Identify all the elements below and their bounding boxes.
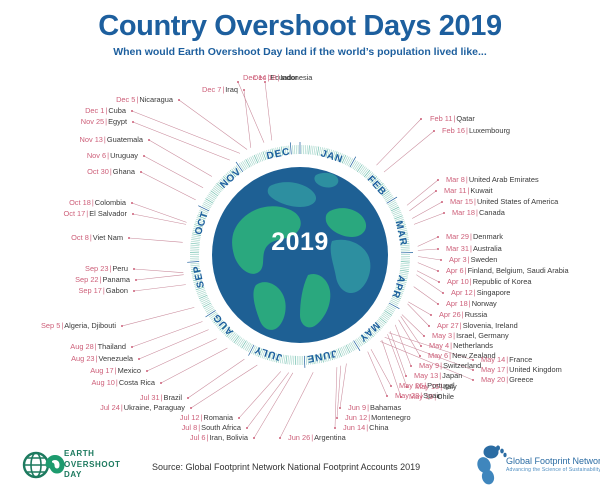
entry-marker-dot — [472, 379, 474, 381]
entry-date: Dec 5 — [116, 95, 135, 104]
entry-marker-dot — [131, 346, 133, 348]
entry-marker-dot — [190, 407, 192, 409]
entry-countries: Mexico — [118, 366, 141, 375]
entry-marker-dot — [143, 155, 145, 157]
entry-countries: Netherlands — [453, 341, 493, 350]
country-entry: Dec 7|Iraq — [202, 86, 238, 93]
entry-date: May 4 — [429, 341, 449, 350]
entry-date: Oct 18 — [69, 198, 91, 207]
country-entry: Apr 12|Singapore — [451, 289, 510, 296]
country-entry: Sep 17|Gabon — [78, 287, 128, 294]
entry-marker-dot — [264, 81, 266, 83]
entry-countries: Brazil — [164, 393, 182, 402]
entry-marker-dot — [132, 213, 134, 215]
country-entry: May 4|Netherlands — [429, 342, 493, 349]
entry-countries: Sweden — [471, 255, 498, 264]
country-entry: Oct 8|Viet Nam — [71, 234, 123, 241]
entry-countries: Colombia — [95, 198, 126, 207]
source-credit: Source: Global Footprint Network Nationa… — [152, 462, 420, 472]
entry-date: Mar 18 — [452, 208, 475, 217]
entry-date: Oct 30 — [87, 167, 109, 176]
entry-marker-dot — [246, 427, 248, 429]
entry-countries: El Salvador — [89, 209, 127, 218]
entry-countries: Israel, Germany — [456, 331, 509, 340]
country-entry: Jul 24|Ukraine, Paraguay — [100, 404, 185, 411]
country-entry: Feb 16|Luxembourg — [442, 127, 510, 134]
entry-date: Sep 23 — [85, 264, 108, 273]
entry-countries: Cuba — [108, 106, 126, 115]
entry-date: Apr 3 — [449, 255, 467, 264]
country-entry: May 20|Greece — [481, 376, 533, 383]
entry-date: May 13 — [414, 371, 438, 380]
entry-countries: Ukraine, Paraguay — [124, 403, 185, 412]
entry-date: Jul 12 — [180, 413, 200, 422]
country-entry: Jun 9|Bahamas — [348, 404, 401, 411]
entry-countries: Switzerland — [443, 361, 481, 370]
entry-date: Apr 10 — [447, 277, 469, 286]
country-entry: May 13|Japan — [414, 372, 462, 379]
entry-marker-dot — [253, 437, 255, 439]
entry-date: Aug 17 — [90, 366, 113, 375]
entry-marker-dot — [423, 335, 425, 337]
entry-countries: Denmark — [473, 232, 503, 241]
entry-countries: Slovenia, Ireland — [463, 321, 518, 330]
country-entry: Jul 31|Brazil — [140, 394, 182, 401]
entry-countries: United Kingdom — [509, 365, 562, 374]
entry-countries: Iran, Bolivia — [209, 433, 248, 442]
entry-date: May 26 — [399, 381, 423, 390]
country-entry: Apr 18|Norway — [446, 300, 497, 307]
country-entry: Apr 26|Russia — [439, 311, 487, 318]
entry-marker-dot — [140, 171, 142, 173]
country-entry: Nov 6|Uruguay — [87, 152, 138, 159]
country-entry: Aug 28|Thailand — [70, 343, 126, 350]
entry-date: Aug 10 — [91, 378, 114, 387]
entry-marker-dot — [160, 382, 162, 384]
entry-date: Nov 13 — [80, 135, 103, 144]
entry-marker-dot — [243, 89, 245, 91]
country-entry: Dec 1|Cuba — [85, 107, 126, 114]
country-entry: Aug 23|Venezuela — [71, 355, 133, 362]
entry-date: Aug 28 — [70, 342, 93, 351]
entry-countries: Canada — [479, 208, 505, 217]
entry-marker-dot — [441, 201, 443, 203]
entry-marker-dot — [178, 99, 180, 101]
entry-countries: South Africa — [201, 423, 241, 432]
entry-marker-dot — [133, 268, 135, 270]
entry-date: Jul 8 — [182, 423, 198, 432]
country-entry: Apr 27|Slovenia, Ireland — [437, 322, 518, 329]
entry-marker-dot — [121, 325, 123, 327]
entry-marker-dot — [146, 370, 148, 372]
country-entry: May 14|France — [481, 356, 532, 363]
country-entry: Sep 23|Peru — [85, 265, 128, 272]
page-subtitle: When would Earth Overshoot Day land if t… — [0, 46, 600, 58]
entry-countries: Qatar — [456, 114, 474, 123]
entry-marker-dot — [131, 110, 133, 112]
entry-marker-dot — [336, 417, 338, 419]
entry-countries: Australia — [473, 244, 502, 253]
country-entry: May 28|Spain — [395, 392, 442, 399]
entry-date: Jul 24 — [100, 403, 120, 412]
entry-marker-dot — [437, 236, 439, 238]
globe-dial: 2019 JANFEBMARAPRMAYJUNEJULYAUGSEPOCTNOV… — [185, 140, 415, 370]
country-entry: Nov 25|Egypt — [81, 118, 127, 125]
entry-date: May 28 — [395, 391, 419, 400]
entry-date: Mar 15 — [450, 197, 473, 206]
entry-date: Dec 1 — [85, 106, 104, 115]
entry-marker-dot — [135, 279, 137, 281]
entry-date: Apr 26 — [439, 310, 461, 319]
entry-marker-dot — [132, 121, 134, 123]
page-title: Country Overshoot Days 2019 — [0, 10, 600, 43]
entry-marker-dot — [405, 375, 407, 377]
entry-marker-dot — [437, 270, 439, 272]
entry-marker-dot — [442, 292, 444, 294]
entry-countries: Russia — [465, 310, 488, 319]
country-entry: Mar 11|Kuwait — [444, 187, 493, 194]
globe-year-label: 2019 — [185, 228, 415, 257]
eod-line-2: OVERSHOOT — [64, 460, 121, 471]
country-entry: Aug 10|Costa Rica — [91, 379, 155, 386]
entry-countries: Finland, Belgium, Saudi Arabia — [468, 266, 569, 275]
entry-marker-dot — [128, 237, 130, 239]
country-entry: Mar 15|United States of America — [450, 198, 558, 205]
country-entry: Oct 17|El Salvador — [64, 210, 128, 217]
country-entry: Apr 10|Republic of Korea — [447, 278, 531, 285]
country-entry: Jul 6|Iran, Bolivia — [190, 434, 248, 441]
entry-marker-dot — [419, 355, 421, 357]
entry-marker-dot — [440, 259, 442, 261]
entry-date: Dec 7 — [202, 85, 221, 94]
entry-marker-dot — [430, 314, 432, 316]
entry-date: May 6 — [428, 351, 448, 360]
entry-marker-dot — [438, 281, 440, 283]
entry-marker-dot — [443, 212, 445, 214]
entry-marker-dot — [433, 130, 435, 132]
entry-date: Sep 17 — [78, 286, 101, 295]
entry-date: Feb 16 — [442, 126, 465, 135]
entry-countries: Costa Rica — [119, 378, 155, 387]
entry-date: Sep 5 — [41, 321, 60, 330]
entry-countries: Peru — [112, 264, 128, 273]
entry-date: Mar 31 — [446, 244, 469, 253]
country-entry: Dec 18|Indonesia — [253, 74, 312, 81]
country-entry: Apr 6|Finland, Belgium, Saudi Arabia — [446, 267, 569, 274]
country-entry: Mar 8|United Arab Emirates — [446, 176, 539, 183]
entry-countries: Singapore — [477, 288, 511, 297]
entry-date: Apr 18 — [446, 299, 468, 308]
entry-marker-dot — [437, 303, 439, 305]
entry-countries: Viet Nam — [93, 233, 123, 242]
entry-marker-dot — [138, 358, 140, 360]
entry-marker-dot — [420, 118, 422, 120]
entry-date: Jul 31 — [140, 393, 160, 402]
entry-date: Jun 26 — [288, 433, 310, 442]
entry-countries: Montenegro — [371, 413, 410, 422]
country-entry: Feb 11|Qatar — [430, 115, 475, 122]
entry-countries: Republic of Korea — [473, 277, 532, 286]
entry-date: Jun 12 — [345, 413, 367, 422]
country-entry: Mar 29|Denmark — [446, 233, 503, 240]
entry-date: Apr 6 — [446, 266, 464, 275]
entry-marker-dot — [390, 385, 392, 387]
country-entry: Nov 13|Guatemala — [80, 136, 144, 143]
country-entry: May 17|United Kingdom — [481, 366, 562, 373]
entry-date: Nov 6 — [87, 151, 106, 160]
entry-marker-dot — [334, 427, 336, 429]
entry-countries: Algeria, Djibouti — [64, 321, 116, 330]
entry-marker-dot — [339, 407, 341, 409]
entry-date: Jul 6 — [190, 433, 206, 442]
entry-countries: China — [369, 423, 388, 432]
entry-date: Nov 25 — [81, 117, 104, 126]
entry-date: Oct 17 — [64, 209, 86, 218]
country-entry: Jul 8|South Africa — [182, 424, 241, 431]
entry-countries: Gabon — [106, 286, 128, 295]
country-entry: Apr 3|Sweden — [449, 256, 497, 263]
entry-date: May 20 — [481, 375, 505, 384]
entry-date: Sep 22 — [75, 275, 98, 284]
entry-date: Aug 23 — [71, 354, 94, 363]
entry-marker-dot — [279, 437, 281, 439]
entry-countries: Iraq — [225, 85, 238, 94]
eod-logo-text: EARTH OVERSHOOT DAY — [64, 449, 121, 481]
entry-marker-dot — [131, 202, 133, 204]
entry-countries: Bahamas — [370, 403, 401, 412]
entry-marker-dot — [437, 179, 439, 181]
entry-marker-dot — [237, 81, 239, 83]
entry-marker-dot — [148, 139, 150, 141]
entry-date: May 9 — [419, 361, 439, 370]
entry-date: Jun 14 — [343, 423, 365, 432]
entry-countries: Argentina — [314, 433, 346, 442]
entry-date: Apr 12 — [451, 288, 473, 297]
country-entry: May 3|Israel, Germany — [432, 332, 509, 339]
entry-countries: Romania — [203, 413, 233, 422]
eod-line-3: DAY — [64, 470, 121, 481]
entry-date: Jun 9 — [348, 403, 366, 412]
entry-countries: Uruguay — [110, 151, 138, 160]
entry-date: May 14 — [481, 355, 505, 364]
entry-countries: Norway — [472, 299, 497, 308]
country-entry: Oct 30|Ghana — [87, 168, 135, 175]
entry-countries: Egypt — [108, 117, 127, 126]
entry-countries: Spain — [423, 391, 442, 400]
country-entry: May 26|Portugal — [399, 382, 455, 389]
country-entry: Aug 17|Mexico — [90, 367, 141, 374]
entry-date: Oct 8 — [71, 233, 89, 242]
entry-marker-dot — [472, 369, 474, 371]
country-entry: Oct 18|Colombia — [69, 199, 126, 206]
entry-countries: Nicaragua — [139, 95, 173, 104]
entry-marker-dot — [428, 325, 430, 327]
entry-countries: Indonesia — [280, 73, 312, 82]
entry-countries: Panama — [102, 275, 130, 284]
entry-countries: Greece — [509, 375, 533, 384]
entry-marker-dot — [187, 397, 189, 399]
country-entry: Jun 14|China — [343, 424, 388, 431]
eod-line-1: EARTH — [64, 449, 121, 460]
entry-countries: Luxembourg — [469, 126, 510, 135]
entry-date: Mar 29 — [446, 232, 469, 241]
entry-countries: Portugal — [427, 381, 455, 390]
country-entry: Jun 26|Argentina — [288, 434, 346, 441]
entry-marker-dot — [435, 190, 437, 192]
entry-countries: United Arab Emirates — [469, 175, 539, 184]
country-entry: Mar 31|Australia — [446, 245, 502, 252]
country-entry: Dec 5|Nicaragua — [116, 96, 173, 103]
entry-countries: France — [509, 355, 532, 364]
entry-countries: United States of America — [477, 197, 558, 206]
entry-date: Feb 11 — [430, 114, 452, 123]
gfn-logo-name: Global Footprint Network — [506, 456, 600, 466]
entry-date: Mar 11 — [444, 186, 466, 195]
entry-date: Apr 27 — [437, 321, 459, 330]
country-entry: Jun 12|Montenegro — [345, 414, 411, 421]
country-entry: Sep 22|Panama — [75, 276, 130, 283]
entry-countries: Guatemala — [107, 135, 143, 144]
entry-countries: Venezuela — [98, 354, 133, 363]
entry-date: Mar 8 — [446, 175, 465, 184]
gfn-logo-tagline: Advancing the Science of Sustainability — [506, 467, 600, 473]
entry-marker-dot — [437, 248, 439, 250]
entry-countries: Japan — [442, 371, 462, 380]
entry-marker-dot — [386, 395, 388, 397]
infographic-page: Country Overshoot Days 2019 When would E… — [0, 0, 600, 489]
entry-countries: Thailand — [98, 342, 126, 351]
entry-countries: Kuwait — [470, 186, 492, 195]
country-entry: Mar 18|Canada — [452, 209, 505, 216]
country-entry: Jul 12|Romania — [180, 414, 233, 421]
country-entry: Sep 5|Algeria, Djibouti — [41, 322, 116, 329]
entry-date: May 17 — [481, 365, 505, 374]
entry-countries: Ghana — [113, 167, 135, 176]
entry-marker-dot — [238, 417, 240, 419]
entry-marker-dot — [420, 345, 422, 347]
entry-marker-dot — [133, 290, 135, 292]
entry-date: May 3 — [432, 331, 452, 340]
